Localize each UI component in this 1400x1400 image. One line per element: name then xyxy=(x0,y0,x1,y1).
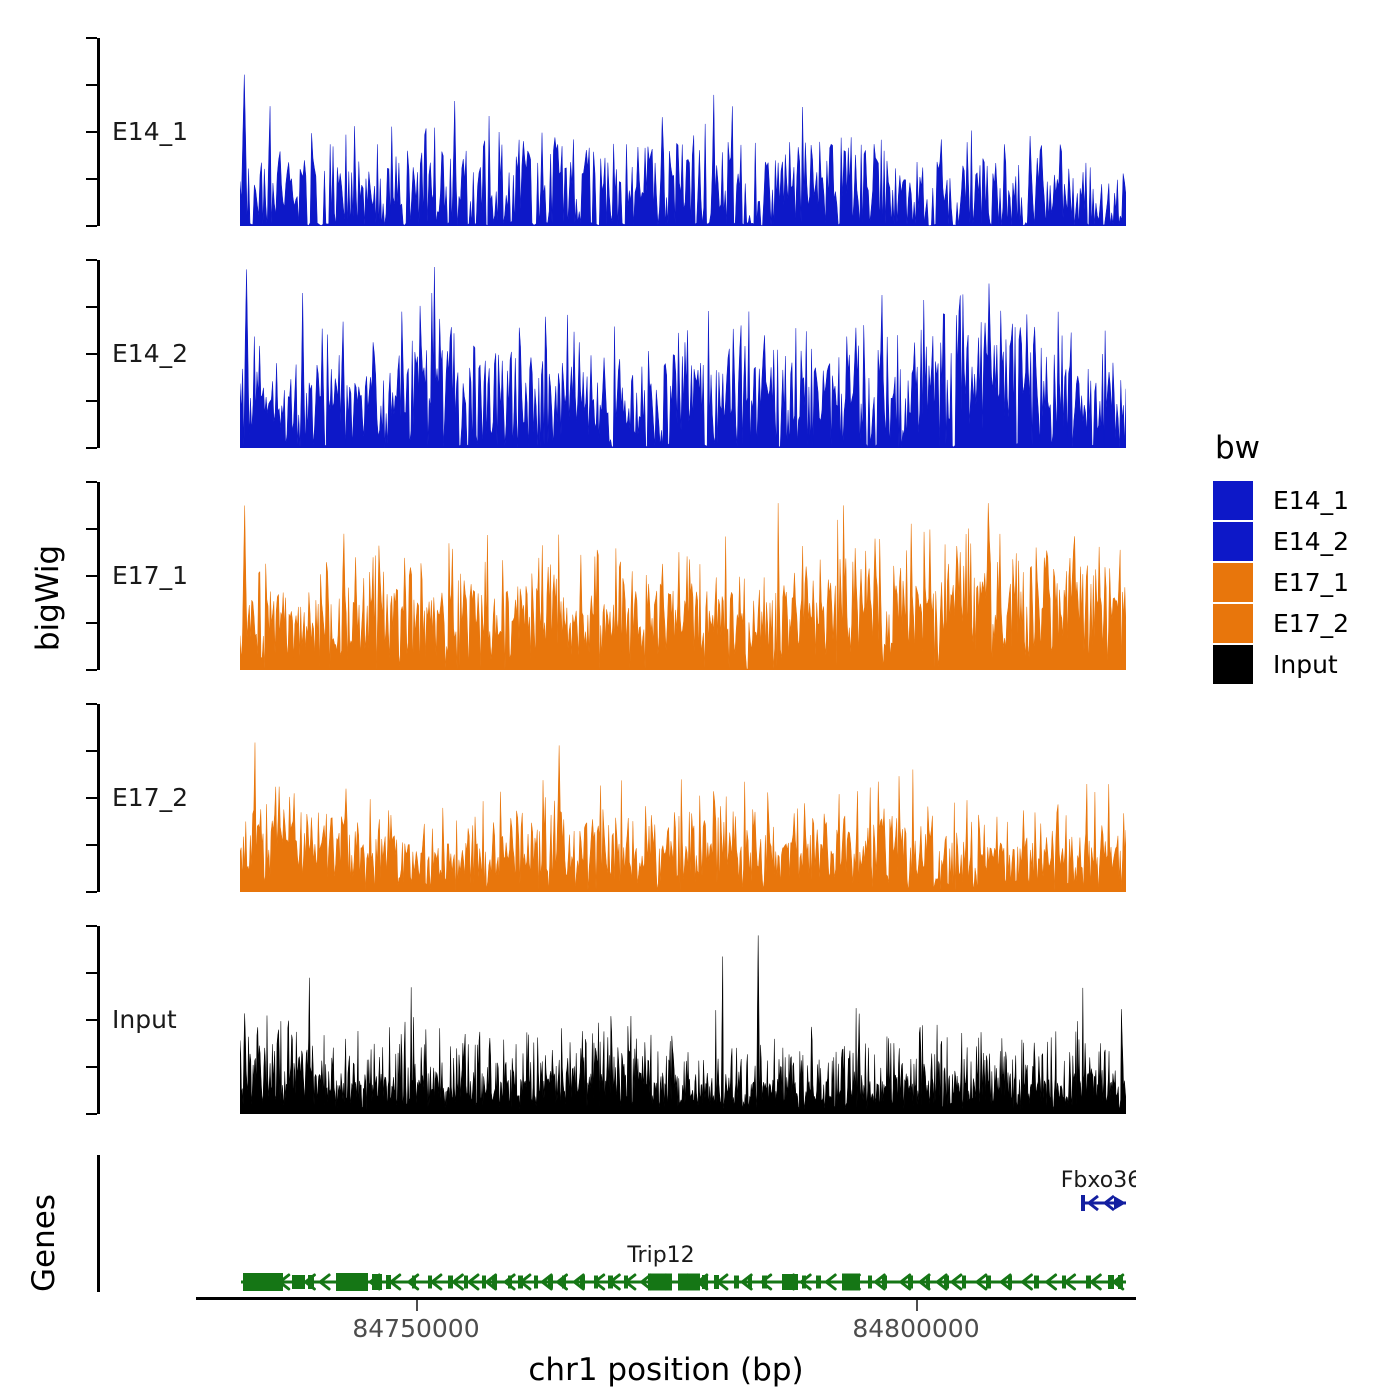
gene-trip12 xyxy=(241,1273,1126,1291)
coverage-area-input xyxy=(240,926,1126,1114)
y-tick xyxy=(86,575,97,577)
legend-title: bw xyxy=(1215,430,1349,466)
legend-item-e17_1[interactable]: E17_1 xyxy=(1213,562,1349,603)
legend-item-input[interactable]: Input xyxy=(1213,644,1349,685)
y-tick xyxy=(86,225,97,227)
coverage-area-e17_2 xyxy=(240,704,1126,892)
x-tick-label: 84800000 xyxy=(816,1314,1016,1343)
y-axis-spine xyxy=(97,260,100,448)
gene-label-fbxo36: Fbxo36 xyxy=(1061,1168,1136,1193)
y-axis-spine xyxy=(97,704,100,892)
coverage-area-e14_2 xyxy=(240,260,1126,448)
legend-label: E14_2 xyxy=(1273,527,1349,556)
signal-panel-input: 01234Input xyxy=(0,926,1200,1114)
track-label-e17_1: E17_1 xyxy=(112,561,188,590)
gene-fbxo36 xyxy=(1081,1195,1126,1211)
x-tick xyxy=(416,1300,418,1311)
legend-label: E14_1 xyxy=(1273,486,1349,515)
y-tick xyxy=(86,259,97,261)
signal-panel-e14_2: 01234E14_2 xyxy=(0,260,1200,448)
coverage-area-e17_1 xyxy=(240,482,1126,670)
y-tick xyxy=(86,622,97,624)
y-tick xyxy=(86,447,97,449)
y-tick xyxy=(86,528,97,530)
legend-swatch xyxy=(1213,522,1253,561)
legend-items: E14_1E14_2E17_1E17_2Input xyxy=(1213,480,1349,685)
legend: bw E14_1E14_2E17_1E17_2Input xyxy=(1213,430,1349,685)
y-tick xyxy=(86,844,97,846)
y-axis-spine xyxy=(97,926,100,1114)
signal-panel-e17_2: 01234E17_2 xyxy=(0,704,1200,892)
x-tick-label: 84750000 xyxy=(316,1314,516,1343)
y-tick xyxy=(86,750,97,752)
legend-swatch xyxy=(1213,645,1253,684)
gene-model-graphic: Trip12Fbxo36 xyxy=(196,1155,1136,1305)
gene-axis-spine xyxy=(97,1155,100,1292)
x-tick xyxy=(916,1300,918,1311)
y-tick xyxy=(86,891,97,893)
x-axis-title: chr1 position (bp) xyxy=(196,1352,1136,1388)
legend-item-e14_1[interactable]: E14_1 xyxy=(1213,480,1349,521)
gene-track-panel: Trip12Fbxo36 xyxy=(0,1155,1200,1305)
y-tick xyxy=(86,925,97,927)
track-label-e14_2: E14_2 xyxy=(112,339,188,368)
y-tick xyxy=(86,178,97,180)
y-tick xyxy=(86,972,97,974)
y-tick xyxy=(86,131,97,133)
y-tick xyxy=(86,1066,97,1068)
y-axis-spine xyxy=(97,482,100,670)
legend-swatch xyxy=(1213,604,1253,643)
legend-label: E17_2 xyxy=(1273,609,1349,638)
legend-item-e14_2[interactable]: E14_2 xyxy=(1213,521,1349,562)
y-tick xyxy=(86,306,97,308)
legend-label: Input xyxy=(1273,650,1338,679)
legend-item-e17_2[interactable]: E17_2 xyxy=(1213,603,1349,644)
track-label-input: Input xyxy=(112,1005,177,1034)
legend-swatch xyxy=(1213,563,1253,602)
y-tick xyxy=(86,669,97,671)
gene-label-trip12: Trip12 xyxy=(626,1243,694,1268)
y-tick xyxy=(86,797,97,799)
y-tick xyxy=(86,703,97,705)
y-tick xyxy=(86,1019,97,1021)
y-tick xyxy=(86,400,97,402)
track-label-e14_1: E14_1 xyxy=(112,117,188,146)
y-tick xyxy=(86,84,97,86)
signal-panel-e14_1: 01234E14_1 xyxy=(0,38,1200,226)
y-tick xyxy=(86,1113,97,1115)
track-label-e17_2: E17_2 xyxy=(112,783,188,812)
y-tick xyxy=(86,353,97,355)
x-axis-line xyxy=(196,1297,1136,1300)
signal-panel-e17_1: 01234E17_1 xyxy=(0,482,1200,670)
legend-swatch xyxy=(1213,481,1253,520)
y-tick xyxy=(86,481,97,483)
coverage-area-e14_1 xyxy=(240,38,1126,226)
genome-browser-plot: bigWig Genes 01234E14_101234E14_201234E1… xyxy=(0,0,1400,1400)
legend-label: E17_1 xyxy=(1273,568,1349,597)
y-tick xyxy=(86,37,97,39)
y-axis-spine xyxy=(97,38,100,226)
